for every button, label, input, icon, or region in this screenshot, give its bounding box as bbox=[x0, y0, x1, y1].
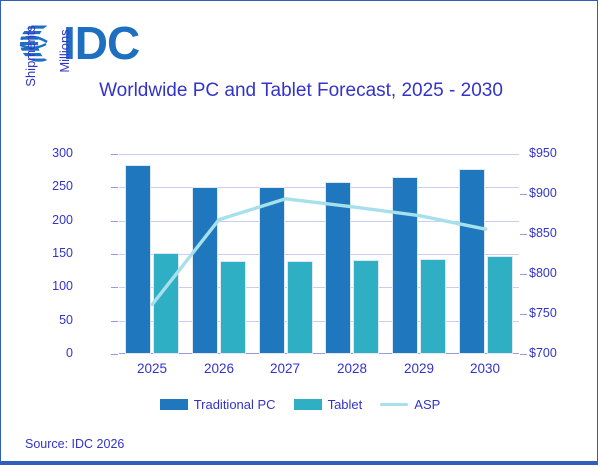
x-tick-2026: 2026 bbox=[186, 361, 252, 376]
bar-tablet-2026[interactable] bbox=[220, 261, 246, 354]
y-axis-label-millions: Millions bbox=[57, 0, 72, 151]
y-axis-label-shipments: Shipments bbox=[23, 0, 38, 156]
x-tick-2025: 2025 bbox=[119, 361, 185, 376]
y-tickmark-left bbox=[111, 354, 118, 355]
legend-item-tablet[interactable]: Tablet bbox=[294, 397, 363, 412]
y-tickmark-left bbox=[111, 221, 118, 222]
x-tick-2028: 2028 bbox=[319, 361, 385, 376]
y-tick-right: $950 bbox=[529, 146, 579, 160]
y-tickmark-left bbox=[111, 287, 118, 288]
y-tick-left: 200 bbox=[27, 213, 73, 227]
legend-item-traditional-pc[interactable]: Traditional PC bbox=[160, 397, 276, 412]
y-tick-left: 150 bbox=[27, 246, 73, 260]
bar-group-2030 bbox=[459, 154, 513, 354]
bottom-rule bbox=[1, 461, 597, 464]
y-tick-left: 300 bbox=[27, 146, 73, 160]
y-tickmark-left bbox=[111, 154, 118, 155]
bar-tablet-2027[interactable] bbox=[287, 261, 313, 354]
bar-traditional-pc-2026[interactable] bbox=[192, 187, 218, 354]
chart-title: Worldwide PC and Tablet Forecast, 2025 -… bbox=[61, 77, 541, 105]
x-tick-2027: 2027 bbox=[252, 361, 318, 376]
chart-figure: IDC Worldwide PC and Tablet Forecast, 20… bbox=[0, 0, 598, 465]
bar-group-2025 bbox=[125, 154, 179, 354]
y-tick-right: $900 bbox=[529, 186, 579, 200]
y-tick-right: $750 bbox=[529, 306, 579, 320]
idc-logo: IDC bbox=[17, 17, 167, 69]
y-tick-left: 250 bbox=[27, 179, 73, 193]
chart-legend: Traditional PC Tablet ASP bbox=[1, 397, 599, 412]
bar-tablet-2030[interactable] bbox=[487, 256, 513, 354]
y-tick-right: $850 bbox=[529, 226, 579, 240]
bar-traditional-pc-2027[interactable] bbox=[259, 187, 285, 354]
y-tick-left: 50 bbox=[27, 313, 73, 327]
legend-label-traditional-pc: Traditional PC bbox=[194, 397, 276, 412]
source-note: Source: IDC 2026 bbox=[25, 437, 124, 451]
legend-swatch-tablet bbox=[294, 399, 322, 410]
idc-logo-text: IDC bbox=[63, 21, 139, 65]
bar-traditional-pc-2030[interactable] bbox=[459, 169, 485, 354]
legend-swatch-asp bbox=[380, 403, 408, 406]
y-tickmark-left bbox=[111, 254, 118, 255]
legend-item-asp[interactable]: ASP bbox=[380, 397, 440, 412]
bar-group-2028 bbox=[325, 154, 379, 354]
legend-swatch-traditional-pc bbox=[160, 399, 188, 410]
legend-label-asp: ASP bbox=[414, 397, 440, 412]
bar-tablet-2025[interactable] bbox=[153, 253, 179, 354]
plot-area bbox=[119, 154, 519, 354]
bar-tablet-2029[interactable] bbox=[420, 259, 446, 354]
y-tickmark-right bbox=[520, 234, 527, 235]
legend-label-tablet: Tablet bbox=[328, 397, 363, 412]
y-tick-right: $800 bbox=[529, 266, 579, 280]
bar-traditional-pc-2028[interactable] bbox=[325, 182, 351, 354]
y-tick-left: 100 bbox=[27, 279, 73, 293]
y-tickmark-right bbox=[520, 274, 527, 275]
y-tickmark-left bbox=[111, 321, 118, 322]
y-tickmark-right bbox=[520, 194, 527, 195]
bar-group-2027 bbox=[259, 154, 313, 354]
bar-traditional-pc-2029[interactable] bbox=[392, 177, 418, 354]
y-tick-right: $700 bbox=[529, 346, 579, 360]
bar-tablet-2028[interactable] bbox=[353, 260, 379, 354]
bar-traditional-pc-2025[interactable] bbox=[125, 165, 151, 354]
y-tickmark-right bbox=[520, 354, 527, 355]
y-tickmark-left bbox=[111, 187, 118, 188]
x-tick-2029: 2029 bbox=[386, 361, 452, 376]
bar-group-2029 bbox=[392, 154, 446, 354]
y-tickmark-right bbox=[520, 314, 527, 315]
x-tick-2030: 2030 bbox=[452, 361, 518, 376]
y-tick-left: 0 bbox=[27, 346, 73, 360]
bar-group-2026 bbox=[192, 154, 246, 354]
